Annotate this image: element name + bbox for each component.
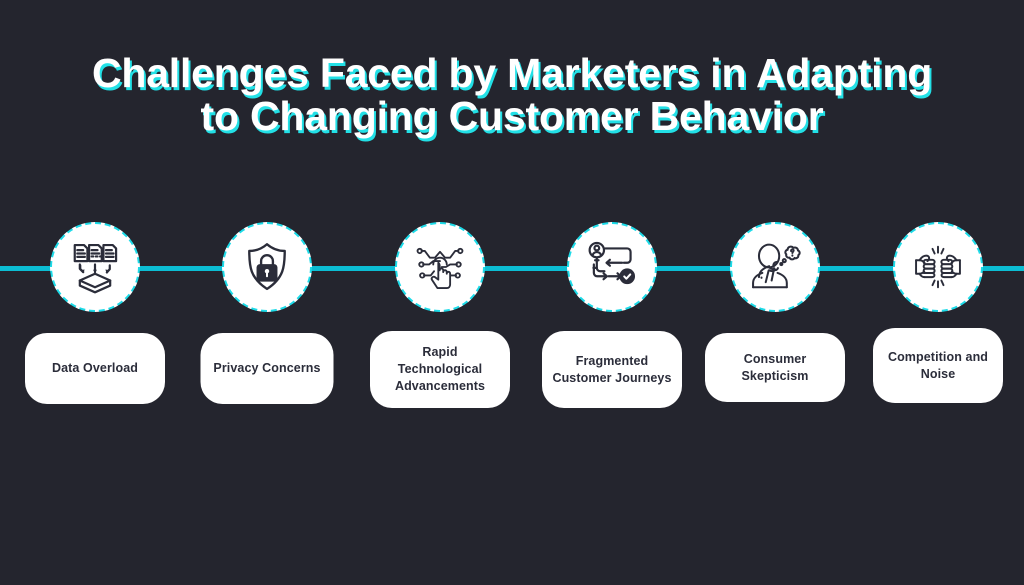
timeline-steps: Data Overload Privacy Concerns bbox=[0, 0, 1024, 585]
step-card-privacy-concerns[interactable]: Privacy Concerns bbox=[201, 333, 334, 404]
infographic-canvas: Challenges Faced by Marketers in Adaptin… bbox=[0, 0, 1024, 585]
step-label: Rapid Technological Advancements bbox=[380, 344, 500, 395]
step-label: Privacy Concerns bbox=[213, 360, 320, 377]
step-label: Data Overload bbox=[52, 360, 138, 377]
hand-touch-circuit-icon bbox=[413, 240, 467, 294]
step-card-fragmented-customer-journeys[interactable]: Fragmented Customer Journeys bbox=[542, 331, 682, 408]
icon-bubble-fragmented-customer-journeys bbox=[567, 222, 657, 312]
documents-into-tray-icon bbox=[68, 240, 122, 294]
icon-bubble-consumer-skepticism bbox=[730, 222, 820, 312]
timeline-step-rapid-technological-advancements[interactable]: Rapid Technological Advancements bbox=[354, 0, 526, 585]
step-label: Competition and Noise bbox=[888, 349, 988, 383]
user-journey-path-icon bbox=[585, 240, 639, 294]
shield-lock-icon bbox=[240, 240, 294, 294]
timeline-step-fragmented-customer-journeys[interactable]: Fragmented Customer Journeys bbox=[526, 0, 698, 585]
icon-bubble-competition-and-noise bbox=[893, 222, 983, 312]
icon-bubble-privacy-concerns bbox=[222, 222, 312, 312]
timeline-step-privacy-concerns[interactable]: Privacy Concerns bbox=[181, 0, 353, 585]
person-thinking-question-icon bbox=[748, 240, 802, 294]
step-label: Consumer Skepticism bbox=[715, 351, 835, 385]
step-card-rapid-technological-advancements[interactable]: Rapid Technological Advancements bbox=[370, 331, 510, 408]
timeline-step-data-overload[interactable]: Data Overload bbox=[9, 0, 181, 585]
step-card-competition-and-noise[interactable]: Competition and Noise bbox=[873, 328, 1003, 403]
fist-bump-clash-icon bbox=[911, 240, 965, 294]
step-card-data-overload[interactable]: Data Overload bbox=[25, 333, 165, 404]
timeline-step-competition-and-noise[interactable]: Competition and Noise bbox=[852, 0, 1024, 585]
step-label: Fragmented Customer Journeys bbox=[552, 353, 671, 387]
icon-bubble-data-overload bbox=[50, 222, 140, 312]
icon-bubble-rapid-technological-advancements bbox=[395, 222, 485, 312]
timeline-step-consumer-skepticism[interactable]: Consumer Skepticism bbox=[689, 0, 861, 585]
step-card-consumer-skepticism[interactable]: Consumer Skepticism bbox=[705, 333, 845, 402]
